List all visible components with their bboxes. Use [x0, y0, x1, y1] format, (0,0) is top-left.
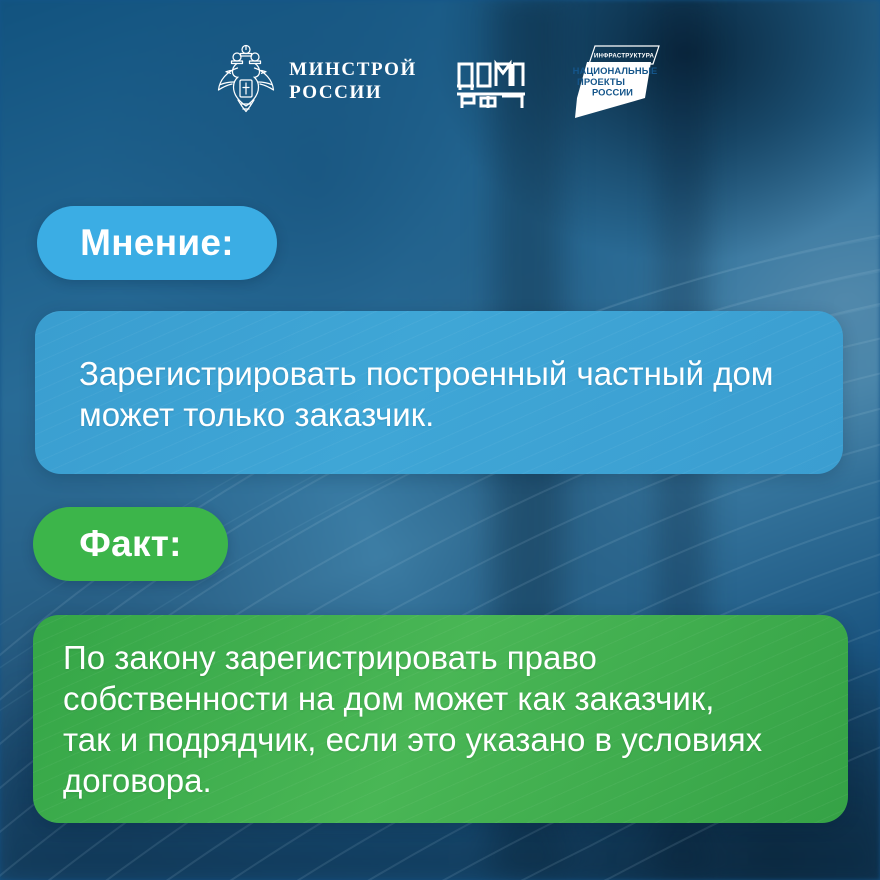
- fact-badge: Факт:: [33, 507, 228, 581]
- fact-card: По закону зарегистрировать право собстве…: [33, 615, 848, 823]
- double-headed-eagle-emblem-icon: [217, 44, 275, 118]
- logo-national-projects: ИНФРАСТРУКТУРА НАЦИОНАЛЬНЫЕ ПРОЕКТЫ РОСС…: [567, 42, 663, 120]
- opinion-card-text: Зарегистрировать построенный частный дом…: [35, 351, 818, 435]
- svg-text:ПРОЕКТЫ: ПРОЕКТЫ: [577, 76, 625, 87]
- header-logo-strip: МИНСТРОЙ РОССИИ: [0, 36, 880, 126]
- svg-text:ИНФРАСТРУКТУРА: ИНФРАСТРУКТУРА: [594, 53, 655, 60]
- svg-text:РОССИИ: РОССИИ: [592, 87, 633, 98]
- fact-badge-label: Факт:: [79, 523, 182, 565]
- fact-card-text: По закону зарегистрировать право собстве…: [33, 637, 792, 801]
- opinion-card: Зарегистрировать построенный частный дом…: [35, 311, 843, 474]
- opinion-badge-label: Мнение:: [80, 222, 234, 264]
- national-projects-banner-icon: ИНФРАСТРУКТУРА НАЦИОНАЛЬНЫЕ ПРОЕКТЫ РОСС…: [567, 42, 663, 120]
- infocard-canvas: МИНСТРОЙ РОССИИ: [0, 0, 880, 880]
- minstroy-wordmark: МИНСТРОЙ РОССИИ: [289, 58, 417, 104]
- dom-rf-monogram-icon: [455, 50, 529, 112]
- svg-text:НАЦИОНАЛЬНЫЕ: НАЦИОНАЛЬНЫЕ: [572, 65, 657, 76]
- logo-minstroy-rossii: МИНСТРОЙ РОССИИ: [217, 44, 417, 118]
- opinion-badge: Мнение:: [37, 206, 277, 280]
